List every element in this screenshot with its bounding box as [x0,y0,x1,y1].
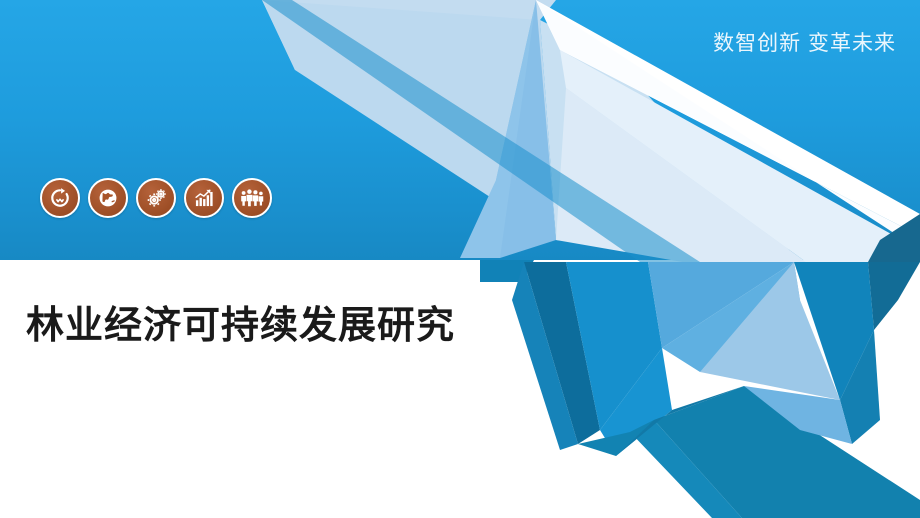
gears-icon [136,178,176,218]
people-icon [232,178,272,218]
poly-facet-right-dark-2 [868,262,920,330]
recycle-icon [40,178,80,218]
low-poly-background-artwork [0,0,920,518]
icon-strip [40,178,272,218]
tagline-text: 数智创新 变革未来 [713,27,896,57]
bar-chart-icon [184,178,224,218]
globe-icon [88,178,128,218]
slide-title: 林业经济可持续发展研究 [26,294,455,349]
presentation-title-slide: 数智创新 变革未来 [0,0,920,518]
